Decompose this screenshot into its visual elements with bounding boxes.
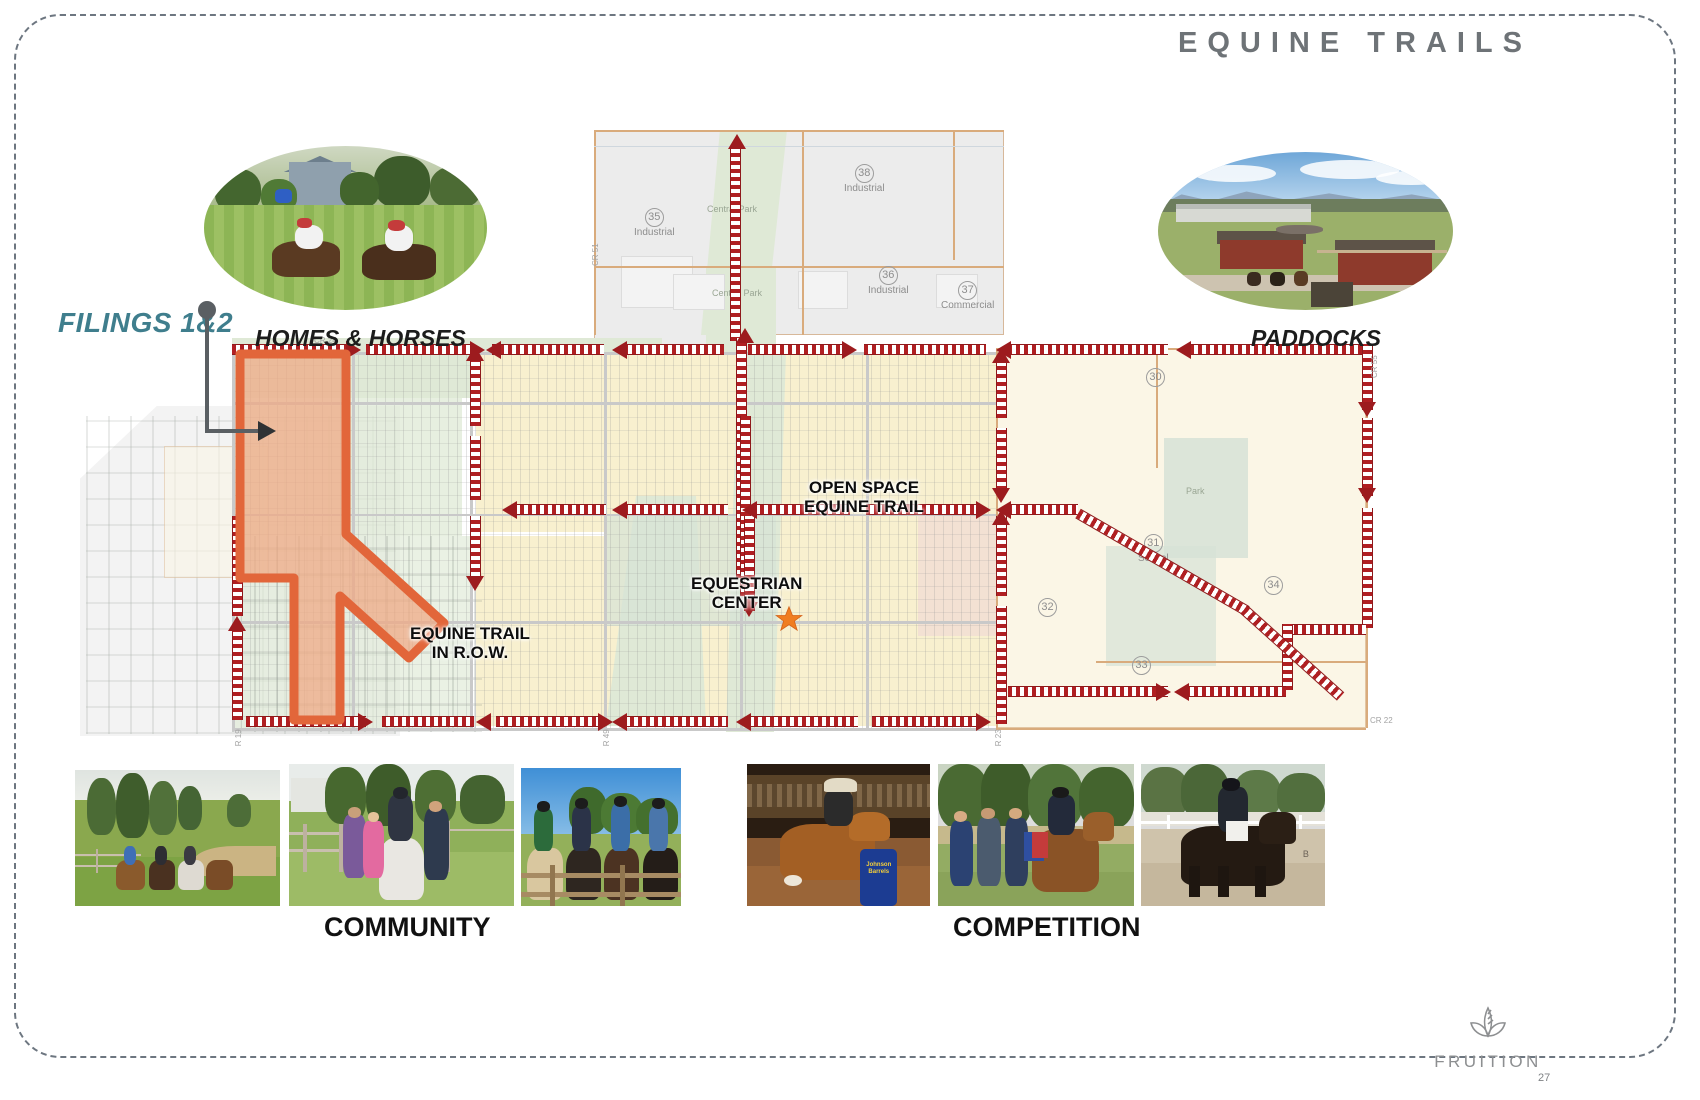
map-parcel-34: 34 xyxy=(1264,576,1283,595)
equine-trail-segment xyxy=(872,716,980,727)
trail-arrow xyxy=(1358,402,1376,417)
equine-trail-segment xyxy=(1362,418,1373,496)
leaf-icon xyxy=(1428,1002,1548,1054)
map-label-open-space-trail: OPEN SPACE EQUINE TRAIL xyxy=(804,478,924,516)
equine-trail-segment xyxy=(1186,686,1286,697)
callout-leader-line xyxy=(205,429,261,433)
trail-arrow xyxy=(992,488,1010,503)
equine-trail-segment xyxy=(1008,504,1078,515)
page-title: EQUINE TRAILS xyxy=(1178,27,1532,60)
equine-trail-segment xyxy=(996,516,1007,596)
trail-arrow xyxy=(736,713,751,731)
map-place-park: Park xyxy=(1186,486,1205,496)
callout-arrow-icon xyxy=(258,421,276,441)
therapeutic-riding-photo xyxy=(289,764,514,906)
fruition-logo: FRUITION xyxy=(1428,1002,1548,1076)
equine-trail-segment xyxy=(1362,508,1373,628)
homes-and-horses-caption: HOMES & HORSES xyxy=(255,325,466,352)
fruition-wordmark: FRUITION xyxy=(1428,1052,1548,1072)
equine-trail-segment xyxy=(1008,686,1168,697)
dressage-photo: B xyxy=(1141,764,1325,906)
map-parcel-33: 33 xyxy=(1132,656,1151,675)
page-number: 27 xyxy=(1538,1072,1550,1084)
equine-trail-segment xyxy=(996,428,1007,490)
callout-leader-line xyxy=(205,317,209,429)
map-building-pad xyxy=(798,271,848,309)
map-road-label: CR 55 xyxy=(1370,355,1379,378)
trail-arrow xyxy=(992,510,1010,525)
map-road-label: CR 51 xyxy=(591,243,600,266)
homes-and-horses-photo xyxy=(204,146,487,310)
equine-trail-segment xyxy=(996,606,1007,724)
equine-trail-segment xyxy=(748,344,844,355)
equine-trail-segment xyxy=(996,358,1007,418)
barrel-racing-photo: Johnson Barrels xyxy=(747,764,930,906)
trail-arrow xyxy=(742,501,757,519)
paddocks-caption: PADDOCKS xyxy=(1251,325,1381,352)
equine-trail-segment xyxy=(864,344,986,355)
map-road-label: CR 49 xyxy=(602,729,611,746)
trail-arrow xyxy=(1174,683,1189,701)
trail-arrow xyxy=(1156,683,1171,701)
map-road-label: CR 19 xyxy=(234,729,243,746)
trail-arrow xyxy=(992,348,1010,363)
filings-highlight-shape xyxy=(234,348,654,728)
map-parcel-35: 35 Industrial xyxy=(634,208,675,239)
map-parcel-30: 30 xyxy=(1146,368,1165,387)
barrel-sponsor-text: Johnson Barrels xyxy=(860,862,897,876)
youth-riders-photo xyxy=(521,768,681,906)
trail-arrow xyxy=(1176,341,1191,359)
map-parcel-38: 38 Industrial xyxy=(844,164,885,195)
competition-caption: COMPETITION xyxy=(953,912,1141,943)
equine-trail-segment xyxy=(1286,624,1366,635)
map-label-equine-trail-row: EQUINE TRAIL IN R.O.W. xyxy=(410,624,530,662)
trail-arrow xyxy=(976,501,991,519)
equine-trail-segment xyxy=(746,716,858,727)
trail-arrow xyxy=(736,328,754,343)
trail-arrow xyxy=(976,713,991,731)
trail-arrow xyxy=(842,341,857,359)
equine-trail-segment xyxy=(1008,344,1168,355)
map-parcel-32: 32 xyxy=(1038,598,1057,617)
map-road-label: CR 23 xyxy=(994,729,1003,746)
star-marker-icon xyxy=(775,605,803,633)
slide-page: EQUINE TRAILS 35 Industrial 38 Industria… xyxy=(0,0,1700,1100)
map-parcel-36: 36 Industrial xyxy=(868,266,909,297)
map-road-label: CR 22 xyxy=(1370,716,1393,725)
awards-ceremony-photo xyxy=(938,764,1134,906)
map-parcel-37: 37 Commercial xyxy=(941,281,994,312)
paddocks-photo xyxy=(1158,152,1453,310)
trail-arrow xyxy=(1358,488,1376,503)
trail-riding-photo xyxy=(75,770,280,906)
trail-arrow xyxy=(728,134,746,149)
equine-trail-segment xyxy=(730,146,741,341)
map-park xyxy=(1164,438,1248,558)
community-caption: COMMUNITY xyxy=(324,912,490,943)
